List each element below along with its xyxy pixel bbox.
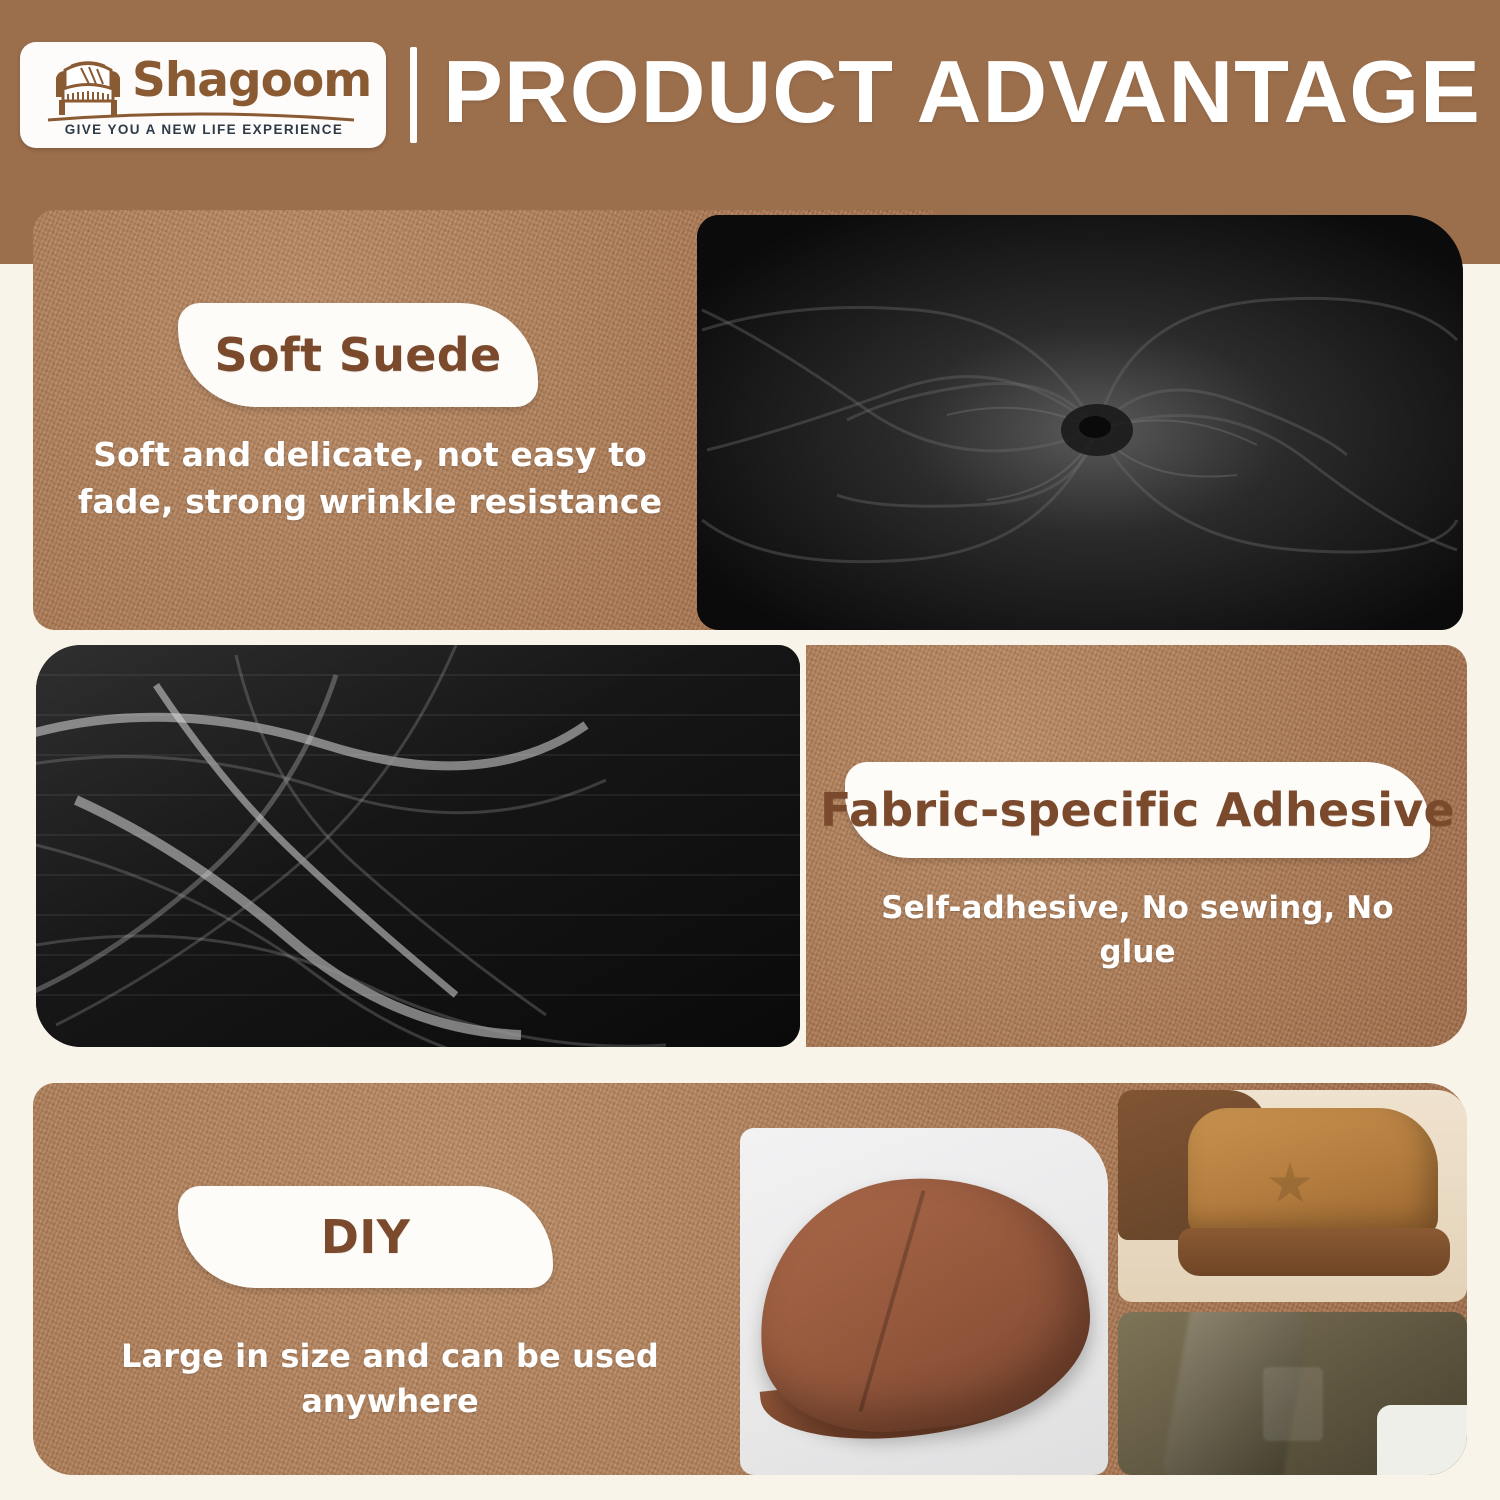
cap-crown-shape: [746, 1161, 1100, 1444]
boot-upper-shape: [1188, 1108, 1438, 1238]
brand-logo: Shagoom GIVE YOU A NEW LIFE EXPERIENCE: [20, 42, 386, 148]
diy-image-flat-cap: [740, 1128, 1108, 1475]
header-divider: [410, 47, 417, 143]
feature-title-diy: DIY: [321, 1210, 411, 1264]
feature-label-soft-suede: Soft Suede: [178, 303, 538, 407]
feature-description-soft-suede: Soft and delicate, not easy to fade, str…: [75, 432, 665, 526]
diy-image-suede-garment: [1118, 1312, 1467, 1475]
garment-backdrop: [1377, 1405, 1467, 1475]
feature-title-soft-suede: Soft Suede: [215, 328, 502, 382]
adhesive-fabric-texture: [36, 645, 800, 1047]
feature-image-adhesive: [36, 645, 800, 1047]
sofa-logo-icon: [48, 56, 128, 118]
page-title: PRODUCT ADVANTAGE: [443, 32, 1481, 152]
brand-wordmark-text: Shagoom: [132, 53, 371, 108]
garment-patch-shape: [1263, 1367, 1323, 1441]
feature-label-diy: DIY: [178, 1186, 553, 1288]
feature-description-diy: Large in size and can be used anywhere: [60, 1334, 720, 1425]
feature-label-adhesive: Fabric-specific Adhesive: [845, 762, 1430, 858]
diy-image-platform-boot: [1118, 1090, 1467, 1302]
feature-image-soft-suede: [697, 215, 1463, 630]
product-advantage-page: Shagoom GIVE YOU A NEW LIFE EXPERIENCE P…: [0, 0, 1500, 1500]
feature-title-adhesive: Fabric-specific Adhesive: [820, 783, 1455, 837]
boot-sole-shape: [1178, 1228, 1450, 1276]
suede-swirl-texture: [697, 215, 1463, 630]
feature-description-adhesive: Self-adhesive, No sewing, No glue: [845, 886, 1430, 974]
brand-tagline: GIVE YOU A NEW LIFE EXPERIENCE: [48, 122, 360, 137]
brand-wordmark: Shagoom: [132, 50, 371, 112]
